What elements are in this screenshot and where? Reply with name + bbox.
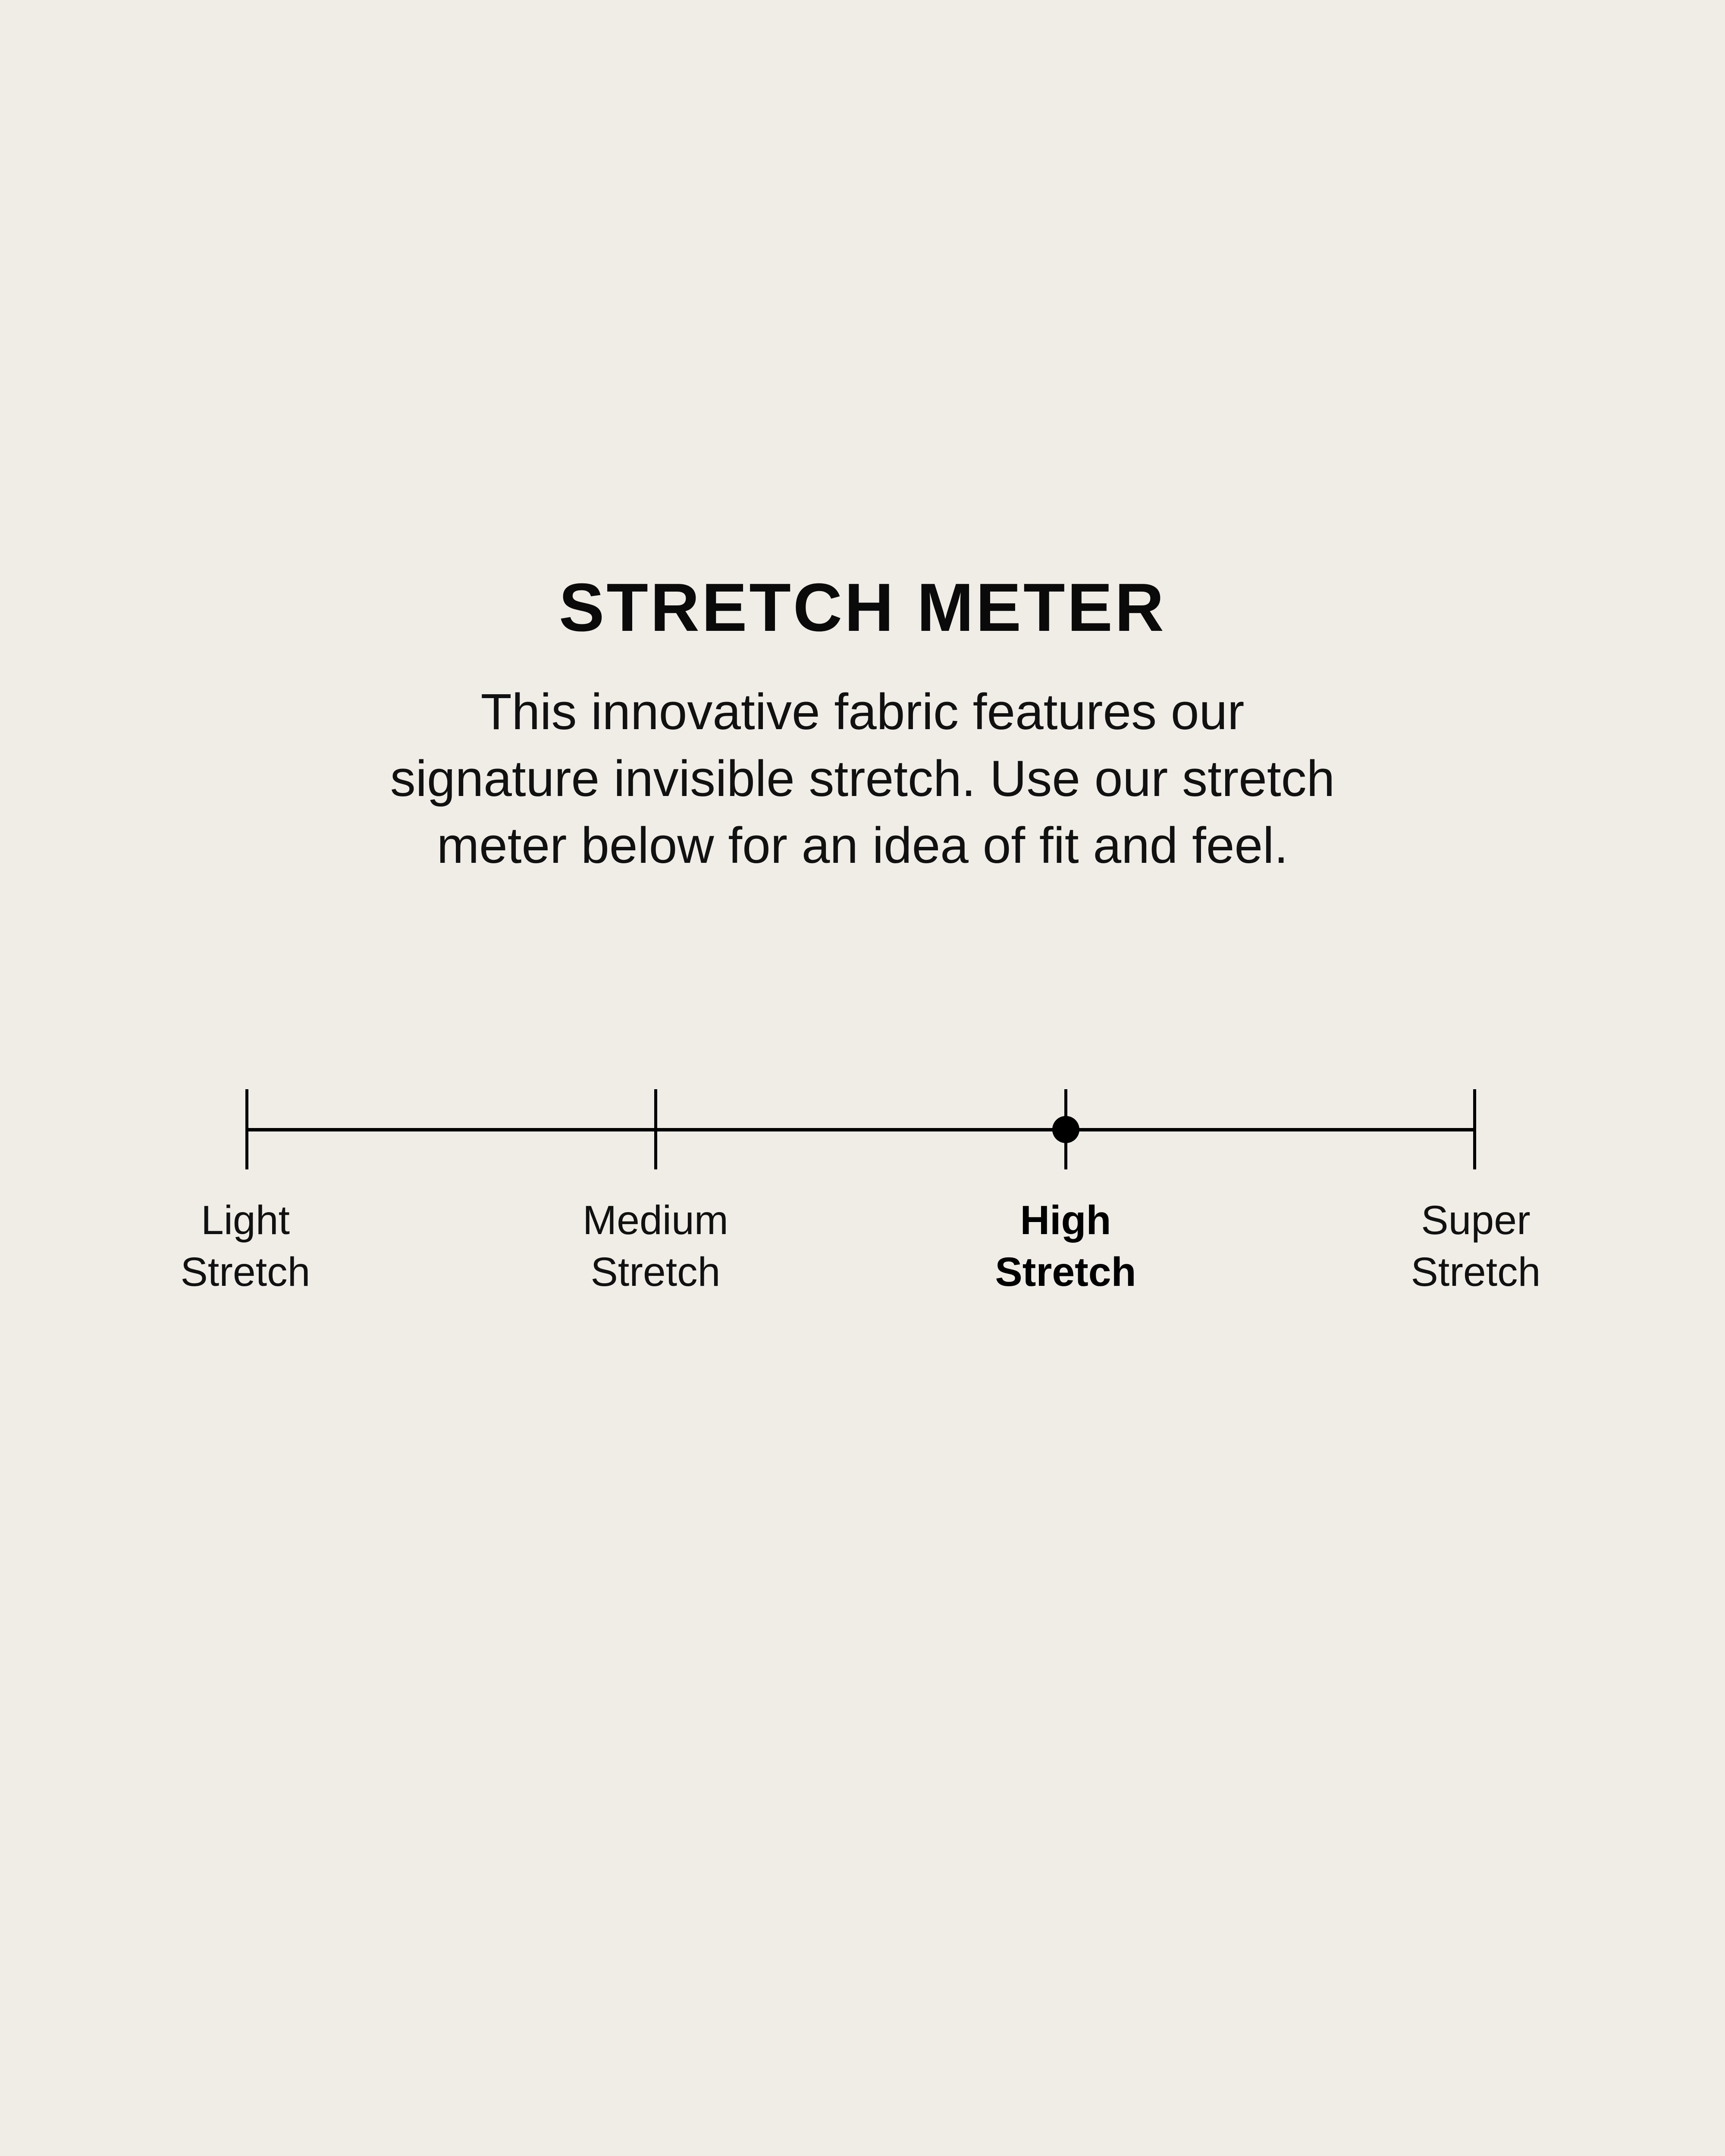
meter-label-super-line-2: Stretch bbox=[1325, 1246, 1627, 1298]
meter-label-high[interactable]: High Stretch bbox=[915, 1194, 1217, 1298]
description-line-2: signature invisible stretch. Use our str… bbox=[0, 746, 1725, 812]
meter-label-super[interactable]: Super Stretch bbox=[1325, 1194, 1627, 1298]
stretch-meter-module: STRETCH METER This innovative fabric fea… bbox=[0, 0, 1725, 2156]
meter-tick-super[interactable] bbox=[1473, 1089, 1476, 1169]
description-line-3: meter below for an idea of fit and feel. bbox=[0, 812, 1725, 879]
meter-label-medium-line-2: Stretch bbox=[505, 1246, 806, 1298]
meter-tick-medium[interactable] bbox=[654, 1089, 657, 1169]
meter-track-line bbox=[245, 1128, 1476, 1131]
meter-label-medium[interactable]: Medium Stretch bbox=[505, 1194, 806, 1298]
meter-labels: Light Stretch Medium Stretch High Stretc… bbox=[245, 1194, 1476, 1307]
description-line-1: This innovative fabric features our bbox=[0, 679, 1725, 746]
meter-label-super-line-1: Super bbox=[1325, 1194, 1627, 1246]
meter-label-light-line-1: Light bbox=[94, 1194, 396, 1246]
meter-label-light-line-2: Stretch bbox=[94, 1246, 396, 1298]
meter-label-medium-line-1: Medium bbox=[505, 1194, 806, 1246]
stretch-meter-scale[interactable] bbox=[245, 1089, 1476, 1169]
meter-marker-dot-icon bbox=[1052, 1116, 1079, 1143]
page-title: STRETCH METER bbox=[0, 573, 1725, 642]
heading-block: STRETCH METER This innovative fabric fea… bbox=[0, 573, 1725, 879]
meter-label-light[interactable]: Light Stretch bbox=[94, 1194, 396, 1298]
meter-tick-light[interactable] bbox=[245, 1089, 248, 1169]
meter-label-high-line-1: High bbox=[915, 1194, 1217, 1246]
module-description: This innovative fabric features our sign… bbox=[0, 642, 1725, 879]
meter-label-high-line-2: Stretch bbox=[915, 1246, 1217, 1298]
